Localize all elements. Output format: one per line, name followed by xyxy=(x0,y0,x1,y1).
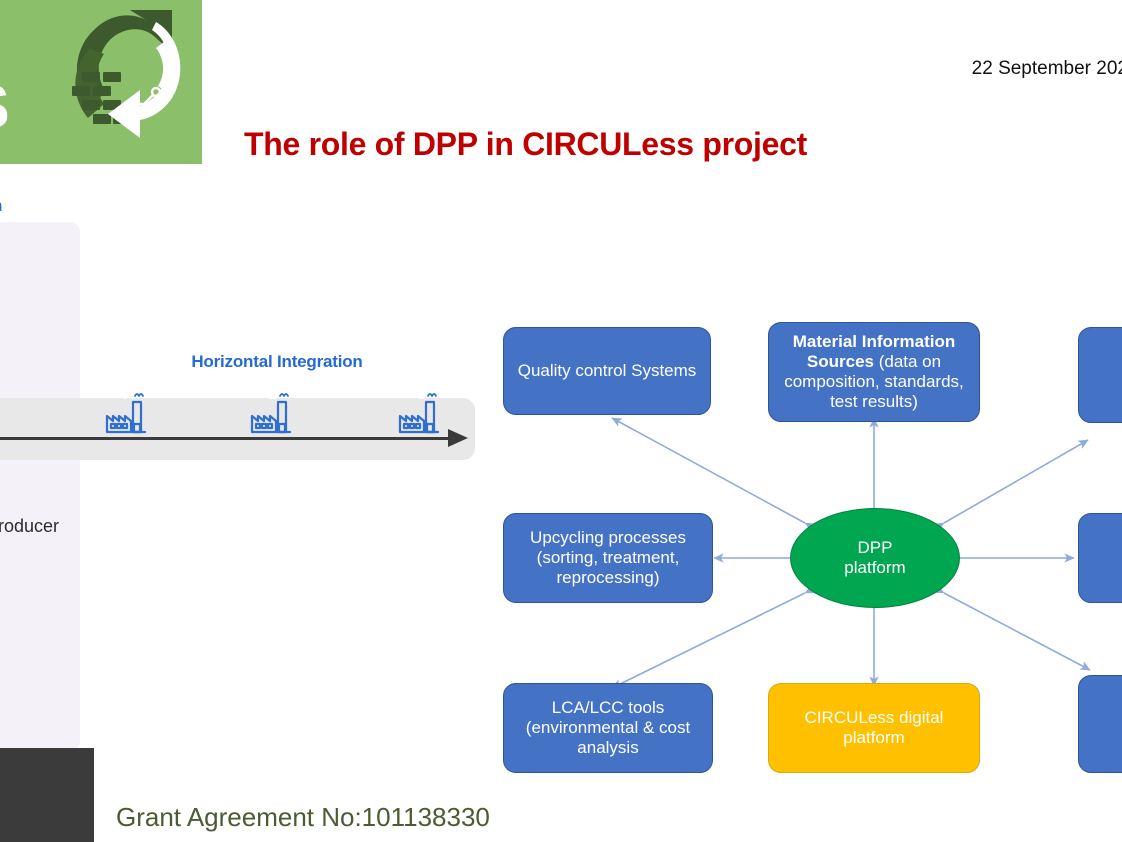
node-ecodesign[interactable]: Eco (des xyxy=(1078,675,1122,773)
grant-agreement-text: Grant Agreement No:101138330 xyxy=(116,802,490,833)
node-lca-lcc-tools[interactable]: LCA/LCC tools (environmental & cost anal… xyxy=(503,683,713,773)
node-production-processes[interactable]: Pro pro up xyxy=(1078,513,1122,603)
node-label: CIRCULess digital platform xyxy=(777,708,971,748)
node-circuless-digital-platform[interactable]: CIRCULess digital platform xyxy=(768,683,980,773)
node-dpp-platform[interactable]: DPPplatform xyxy=(790,508,960,608)
node-label-line2: platform xyxy=(844,558,905,577)
node-label: LCA/LCC tools (environmental & cost anal… xyxy=(512,698,704,758)
node-label: Upcycling processes (sorting, treatment,… xyxy=(512,528,704,588)
node-material-information-sources[interactable]: Material Information Sources (data on co… xyxy=(768,322,980,422)
node-label: Quality control Systems xyxy=(518,361,697,381)
node-label-line1: DPP xyxy=(858,538,893,557)
node-quality-control-systems[interactable]: Quality control Systems xyxy=(503,327,711,415)
node-logistics[interactable]: Lo (tra xyxy=(1078,327,1122,423)
dpp-relationship-diagram: Quality control Systems Material Informa… xyxy=(0,0,1122,842)
partner-logo: ect. he Future xyxy=(0,748,94,842)
node-upcycling-processes[interactable]: Upcycling processes (sorting, treatment,… xyxy=(503,513,713,603)
